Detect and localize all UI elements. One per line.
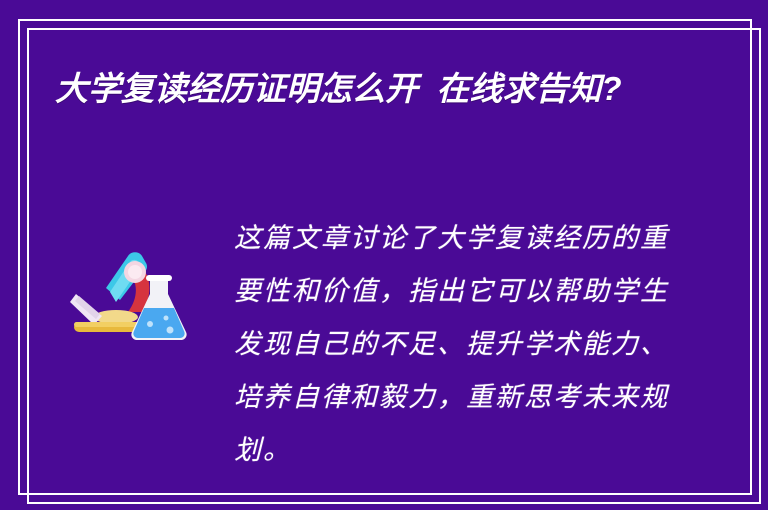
microscope-flask-icon	[70, 232, 196, 344]
page-title: 大学复读经历证明怎么开 在线求告知?	[55, 62, 695, 116]
article-body-block: 这篇文章讨论了大学复读经历的重要性和价值，指出它可以帮助学生发现自己的不足、提升…	[70, 212, 690, 477]
article-summary-text: 这篇文章讨论了大学复读经历的重要性和价值，指出它可以帮助学生发现自己的不足、提升…	[234, 212, 690, 477]
article-card: 大学复读经历证明怎么开 在线求告知?	[0, 0, 768, 510]
